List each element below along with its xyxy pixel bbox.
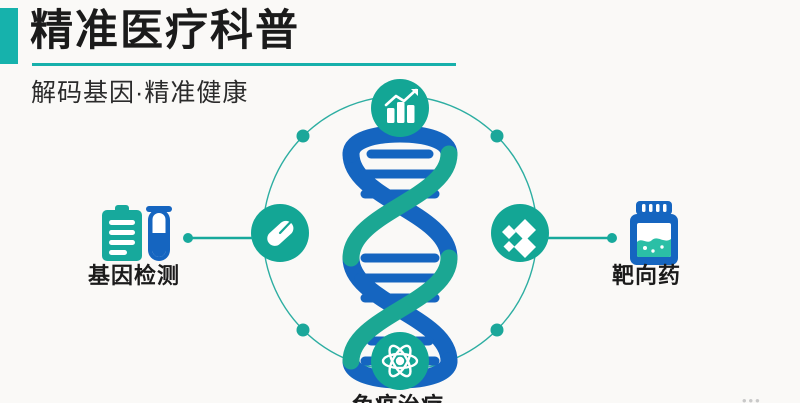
page-title: 精准医疗科普 [30, 6, 300, 57]
page-subtitle: 解码基因·精准健康 [31, 73, 248, 109]
precision-medicine-diagram [225, 78, 575, 403]
label-genetic-testing: 基因检测 [88, 258, 180, 290]
orbit-dot-nw [297, 130, 310, 143]
node-left-capsule [251, 204, 309, 262]
node-bottom-atom [371, 332, 429, 390]
watermark: ••• [742, 393, 762, 403]
connector-right [546, 230, 618, 251]
bottle-liquid [637, 238, 671, 257]
node-top-bar-chart [371, 79, 429, 137]
orbit-dot-se [491, 324, 504, 337]
title-divider-rule [32, 63, 456, 66]
orbit-dot-ne [491, 130, 504, 143]
label-immunotherapy: 免疫治疗 [352, 388, 444, 403]
slide-canvas: 精准医疗科普 解码基因·精准健康 [0, 0, 800, 403]
clipboard-icon [102, 205, 142, 261]
bottle-cap [636, 201, 672, 215]
orbit-dot-sw [297, 324, 310, 337]
label-targeted-drug: 靶向药 [612, 258, 681, 290]
test-tube-icon [146, 206, 172, 261]
connector-left [182, 230, 254, 251]
node-right-molecule [491, 204, 549, 262]
title-accent-bar [0, 8, 18, 64]
connector-right-dot [607, 233, 617, 243]
